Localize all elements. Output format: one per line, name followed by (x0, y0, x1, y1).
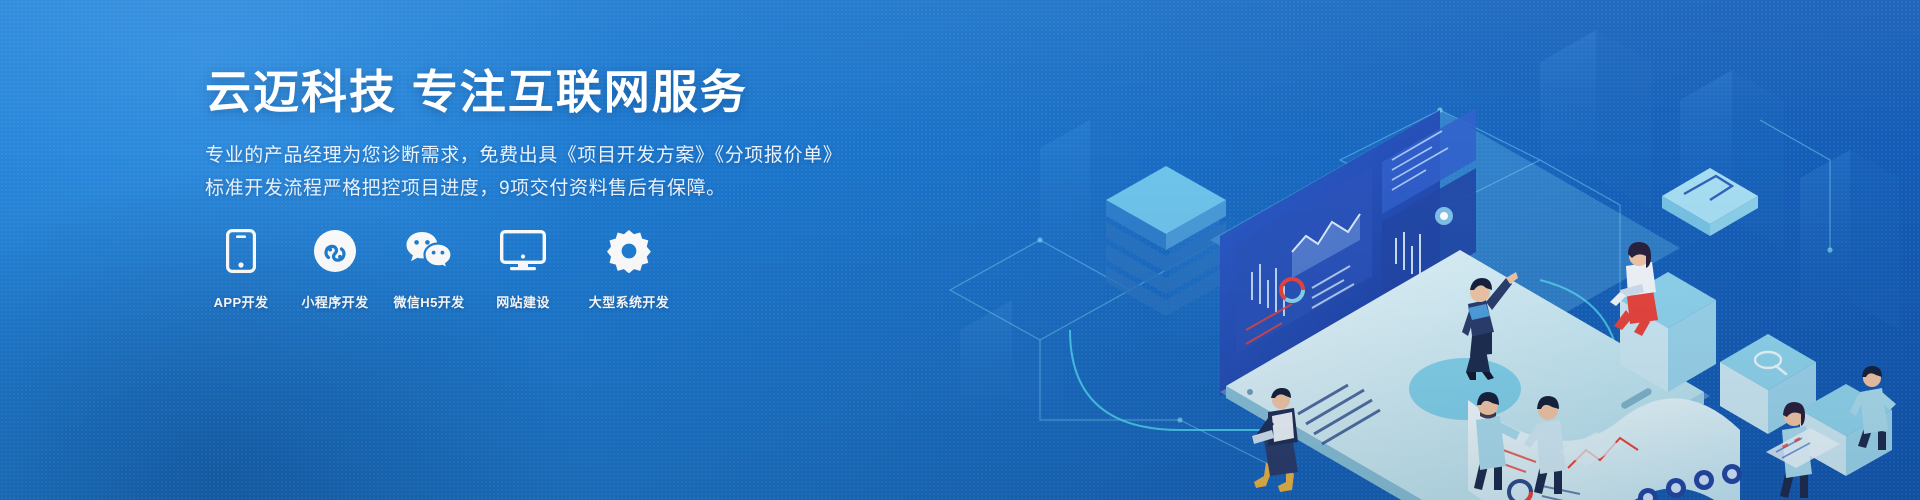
promo-banner: 云迈科技 专注互联网服务 专业的产品经理为您诊断需求，免费出具《项目开发方案》《… (0, 0, 1920, 500)
vignette-overlay (0, 0, 1920, 500)
